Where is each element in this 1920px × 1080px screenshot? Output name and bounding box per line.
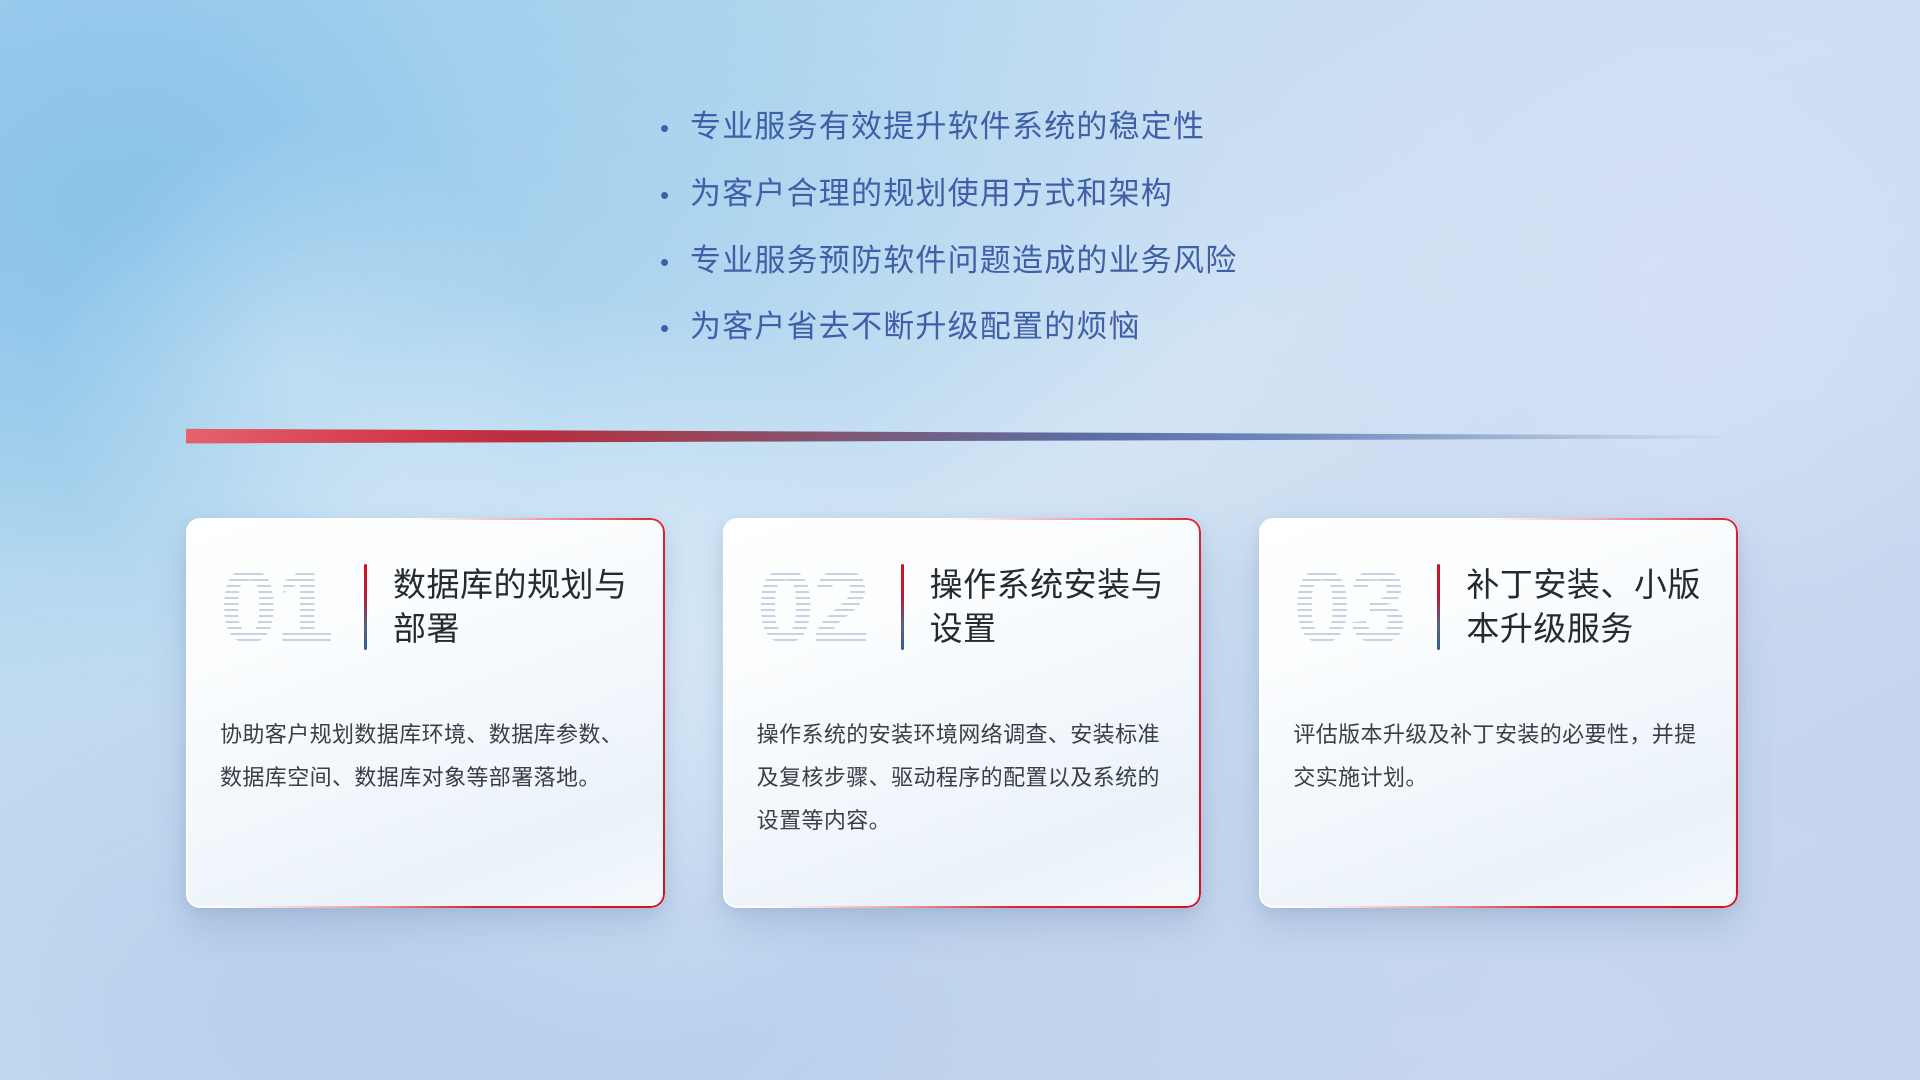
service-card-number: 02 bbox=[757, 555, 897, 659]
service-card[interactable]: 01 数据库的规划与部署 协助客户规划数据库环境、数据库参数、数据库空间、数据库… bbox=[186, 518, 665, 908]
bullet-item-label: 为客户省去不断升级配置的烦恼 bbox=[690, 308, 1141, 347]
service-card-header: 01 数据库的规划与部署 bbox=[186, 518, 665, 696]
title-divider-bar bbox=[364, 564, 367, 650]
service-card-description: 评估版本升级及补丁安装的必要性，并提交实施计划。 bbox=[1259, 696, 1738, 800]
service-card-title: 数据库的规划与部署 bbox=[393, 563, 635, 650]
bullet-item: • 为客户省去不断升级配置的烦恼 bbox=[660, 308, 1480, 347]
divider-gloss bbox=[186, 424, 1738, 446]
bullet-item: • 为客户合理的规划使用方式和架构 bbox=[660, 175, 1480, 214]
bullet-dot-icon: • bbox=[660, 115, 690, 141]
bullet-dot-icon: • bbox=[660, 249, 690, 275]
service-card[interactable]: 02 操作系统安装与设置 操作系统的安装环境网络调查、安装标准及复核步骤、驱动程… bbox=[723, 518, 1202, 908]
service-card-title: 补丁安装、小版本升级服务 bbox=[1466, 563, 1708, 650]
service-card-description: 协助客户规划数据库环境、数据库参数、数据库空间、数据库对象等部署落地。 bbox=[186, 696, 665, 800]
service-card-header: 03 补丁安装、小版本升级服务 bbox=[1259, 518, 1738, 696]
background-glow-top-left bbox=[0, 0, 520, 600]
bullet-item-label: 专业服务预防软件问题造成的业务风险 bbox=[690, 242, 1237, 281]
bullet-item-label: 为客户合理的规划使用方式和架构 bbox=[690, 175, 1173, 214]
service-card-title: 操作系统安装与设置 bbox=[930, 563, 1172, 650]
bullet-item: • 专业服务有效提升软件系统的稳定性 bbox=[660, 108, 1480, 147]
service-card-header: 02 操作系统安装与设置 bbox=[723, 518, 1202, 696]
section-divider bbox=[186, 424, 1738, 446]
bullet-dot-icon: • bbox=[660, 315, 690, 341]
bullet-dot-icon: • bbox=[660, 182, 690, 208]
bullet-item-label: 专业服务有效提升软件系统的稳定性 bbox=[690, 108, 1205, 147]
service-card-number: 01 bbox=[220, 555, 360, 659]
slide-root: • 专业服务有效提升软件系统的稳定性 • 为客户合理的规划使用方式和架构 • 专… bbox=[0, 0, 1920, 1080]
bullet-item: • 专业服务预防软件问题造成的业务风险 bbox=[660, 242, 1480, 281]
benefit-bullet-list: • 专业服务有效提升软件系统的稳定性 • 为客户合理的规划使用方式和架构 • 专… bbox=[660, 108, 1480, 375]
service-card[interactable]: 03 补丁安装、小版本升级服务 评估版本升级及补丁安装的必要性，并提交实施计划。 bbox=[1259, 518, 1738, 908]
title-divider-bar bbox=[1437, 564, 1440, 650]
service-card-number: 03 bbox=[1293, 555, 1433, 659]
service-card-row: 01 数据库的规划与部署 协助客户规划数据库环境、数据库参数、数据库空间、数据库… bbox=[186, 518, 1738, 908]
title-divider-bar bbox=[901, 564, 904, 650]
service-card-description: 操作系统的安装环境网络调查、安装标准及复核步骤、驱动程序的配置以及系统的设置等内… bbox=[723, 696, 1202, 843]
